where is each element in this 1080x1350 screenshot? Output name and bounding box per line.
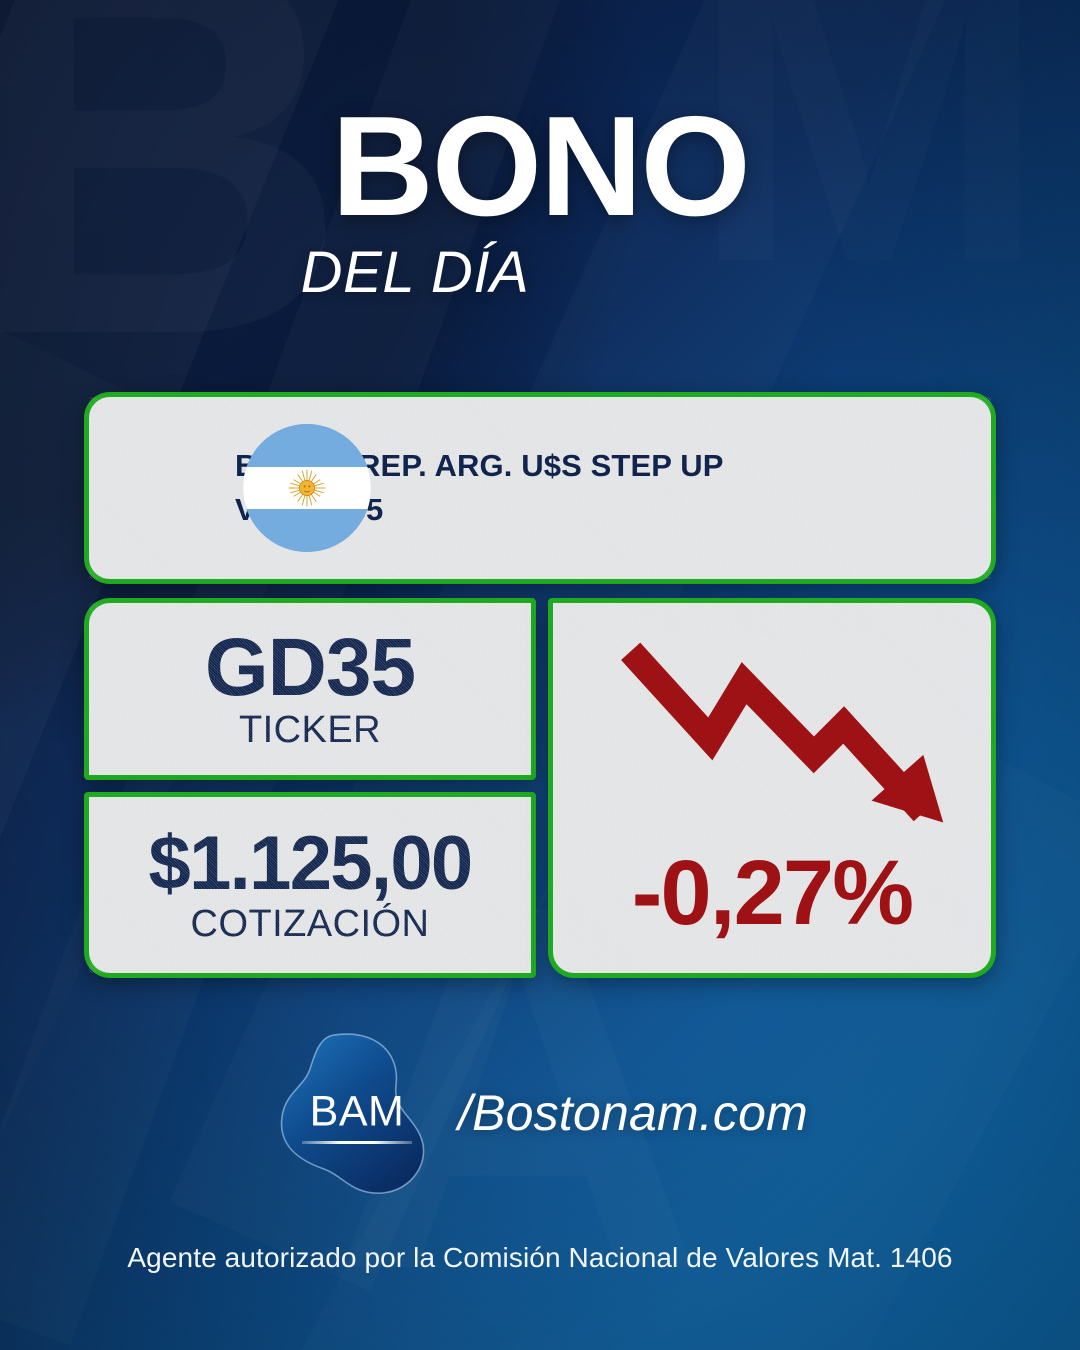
argentina-flag-icon	[243, 424, 371, 552]
ticker-card: GD35 TICKER	[84, 598, 536, 780]
price-value: $1.125,00	[148, 827, 471, 901]
ticker-label: TICKER	[239, 711, 381, 749]
flag-band-top	[243, 424, 371, 467]
page-title: BONO	[0, 96, 1080, 238]
bam-logo: BAM	[272, 1029, 442, 1197]
poster-header: BONO DEL DÍA	[0, 96, 1080, 302]
footer-disclaimer: Agente autorizado por la Comisión Nacion…	[0, 1242, 1080, 1274]
ticker-value: GD35	[205, 629, 415, 708]
trend-down-arrow-icon	[553, 615, 991, 825]
flag-band-bottom	[243, 509, 371, 552]
page-subtitle: DEL DÍA	[0, 244, 1080, 302]
bam-logo-underline	[302, 1141, 412, 1144]
price-card: $1.125,00 COTIZACIÓN	[84, 792, 536, 978]
brand-website: /Bostonam.com	[458, 1088, 808, 1138]
change-card: -0,27%	[548, 598, 996, 978]
change-percentage: -0,27%	[553, 847, 991, 939]
price-label: COTIZACIÓN	[191, 905, 430, 943]
bond-of-the-day-poster: B M A BONO DEL DÍA	[0, 0, 1080, 1350]
bond-name-card: BONOS REP. ARG. U$S STEP UP V.09/07/35	[84, 392, 996, 584]
sun-of-may-icon	[287, 468, 327, 508]
brand-row: BAM /Bostonam.com	[0, 1028, 1080, 1198]
bam-logo-text: BAM	[272, 1091, 442, 1134]
